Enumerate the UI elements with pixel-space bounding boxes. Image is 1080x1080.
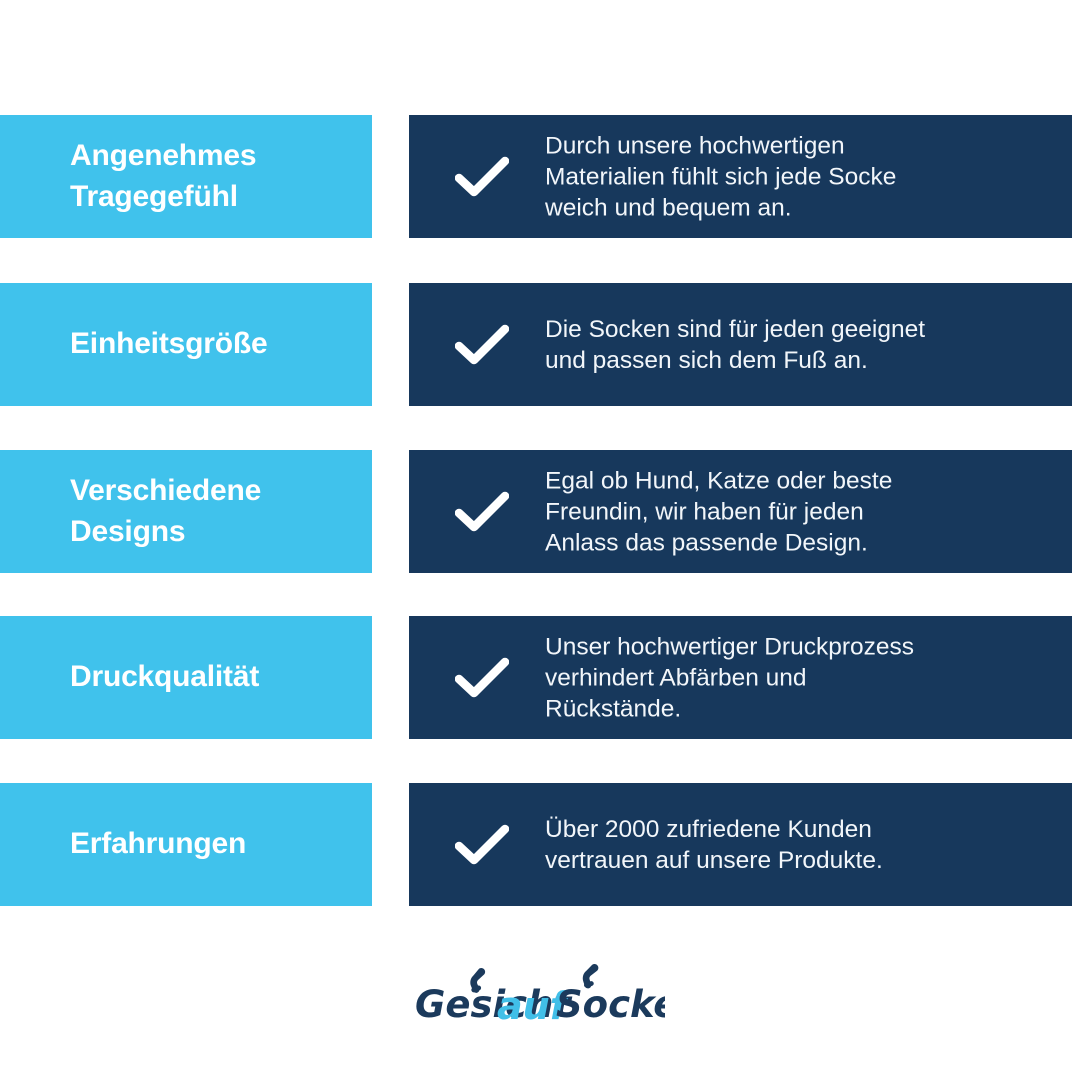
- feature-description-panel: Die Socken sind für jeden geeignet und p…: [409, 283, 1072, 406]
- feature-label-panel: Erfahrungen: [0, 783, 372, 906]
- feature-description-line: verhindert Abfärben und: [545, 664, 807, 691]
- feature-description-line: weich und bequem an.: [545, 194, 792, 221]
- feature-label: Angenehmes Tragegefühl: [70, 136, 256, 216]
- feature-description-line: Materialien fühlt sich jede Socke: [545, 163, 896, 190]
- feature-description-line: Die Socken sind für jeden geeignet: [545, 315, 925, 342]
- checkmark-icon: [454, 484, 510, 540]
- feature-row: Einheitsgröße Die Socken sind für jeden …: [0, 283, 1080, 406]
- feature-description: Die Socken sind für jeden geeignet und p…: [545, 313, 1054, 375]
- feature-description-line: Egal ob Hund, Katze oder beste: [545, 467, 892, 494]
- feature-row: Erfahrungen Über 2000 zufriedene Kunden …: [0, 783, 1080, 906]
- feature-list-graphic: Angenehmes Tragegefühl Durch unsere hoch…: [0, 0, 1080, 1080]
- feature-label: Druckqualität: [70, 657, 259, 697]
- gesichtaufsocken-logo: Gesicht auf Socken: [0, 958, 1080, 1038]
- feature-label-line: Druckqualität: [70, 660, 259, 693]
- feature-description: Über 2000 zufriedene Kunden vertrauen au…: [545, 813, 1054, 875]
- feature-label-line: Designs: [70, 515, 185, 548]
- logo-text-part-two: Socken: [556, 983, 665, 1026]
- feature-label-panel: Einheitsgröße: [0, 283, 372, 406]
- feature-description-line: Anlass das passende Design.: [545, 529, 868, 556]
- feature-description-panel: Über 2000 zufriedene Kunden vertrauen au…: [409, 783, 1072, 906]
- feature-description-line: Rückstände.: [545, 695, 681, 722]
- feature-label-line: Erfahrungen: [70, 827, 246, 860]
- feature-description: Egal ob Hund, Katze oder beste Freundin,…: [545, 465, 1054, 558]
- feature-label-panel: Verschiedene Designs: [0, 450, 372, 573]
- feature-label-panel: Angenehmes Tragegefühl: [0, 115, 372, 238]
- feature-description-line: Über 2000 zufriedene Kunden: [545, 815, 872, 842]
- feature-label-line: Tragegefühl: [70, 180, 238, 213]
- feature-label-line: Verschiedene: [70, 474, 261, 507]
- checkmark-icon: [454, 650, 510, 706]
- feature-label-line: Einheitsgröße: [70, 327, 267, 360]
- checkmark-icon: [454, 317, 510, 373]
- feature-description-line: und passen sich dem Fuß an.: [545, 347, 868, 374]
- feature-description-panel: Egal ob Hund, Katze oder beste Freundin,…: [409, 450, 1072, 573]
- feature-row: Verschiedene Designs Egal ob Hund, Katze…: [0, 450, 1080, 573]
- feature-description-line: Durch unsere hochwertigen: [545, 132, 845, 159]
- feature-description: Unser hochwertiger Druckprozess verhinde…: [545, 631, 1054, 724]
- feature-label-line: Angenehmes: [70, 139, 256, 172]
- feature-description: Durch unsere hochwertigen Materialien fü…: [545, 130, 1054, 223]
- feature-description-panel: Unser hochwertiger Druckprozess verhinde…: [409, 616, 1072, 739]
- feature-description-line: Unser hochwertiger Druckprozess: [545, 633, 914, 660]
- feature-label: Erfahrungen: [70, 824, 246, 864]
- feature-row: Angenehmes Tragegefühl Durch unsere hoch…: [0, 115, 1080, 238]
- feature-label-panel: Druckqualität: [0, 616, 372, 739]
- feature-label: Verschiedene Designs: [70, 471, 261, 551]
- feature-row: Druckqualität Unser hochwertiger Druckpr…: [0, 616, 1080, 739]
- checkmark-icon: [454, 817, 510, 873]
- feature-description-panel: Durch unsere hochwertigen Materialien fü…: [409, 115, 1072, 238]
- feature-description-line: vertrauen auf unsere Produkte.: [545, 847, 883, 874]
- checkmark-icon: [454, 149, 510, 205]
- feature-description-line: Freundin, wir haben für jeden: [545, 498, 864, 525]
- feature-label: Einheitsgröße: [70, 324, 267, 364]
